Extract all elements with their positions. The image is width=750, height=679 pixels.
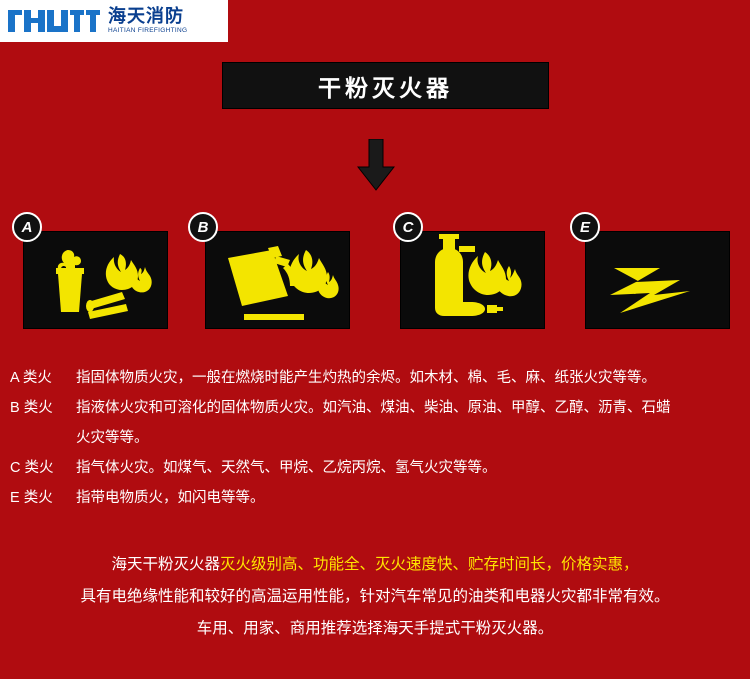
liquid-fuel-fire-icon (206, 232, 349, 328)
gas-cylinder-fire-icon (401, 232, 544, 328)
fire-class-cards: A B C E (0, 212, 750, 337)
fire-class-card (585, 231, 730, 329)
description-text: 指液体火灾和可溶化的固体物质火灾。如汽油、煤油、柴油、原油、甲醇、乙醇、沥青、石… (76, 400, 671, 416)
solid-combustible-fire-icon (24, 232, 167, 328)
description-label: E 类火 (10, 483, 76, 513)
footer-line-3: 车用、用家、商用推荐选择海天手提式干粉灭火器。 (0, 613, 750, 645)
down-arrow-icon (357, 139, 395, 191)
description-row: A 类火指固体物质火灾，一般在燃烧时能产生灼热的余烬。如木材、棉、毛、麻、纸张火… (10, 363, 745, 393)
fire-class-badge: C (393, 212, 423, 242)
logo-brand-en: HAITIAN FIREFIGHTING (108, 28, 187, 35)
description-text: 指带电物质火，如闪电等等。 (76, 490, 265, 506)
footer-paragraph: 海天干粉灭火器灭火级别高、功能全、灭火速度快、贮存时间长，价格实惠， 具有电绝缘… (0, 549, 750, 645)
page-title: 干粉灭火器 (222, 62, 549, 109)
haitian-wave-logo-icon (6, 6, 102, 36)
fire-class-badge: E (570, 212, 600, 242)
description-text-continued: 火灾等等。 (10, 423, 745, 453)
fire-class-card (23, 231, 168, 329)
description-label: C 类火 (10, 453, 76, 483)
description-row: B 类火指液体火灾和可溶化的固体物质火灾。如汽油、煤油、柴油、原油、甲醇、乙醇、… (10, 393, 745, 423)
footer-line-1-brand: 海天干粉灭火器 (111, 556, 220, 573)
fire-class-descriptions: A 类火指固体物质火灾，一般在燃烧时能产生灼热的余烬。如木材、棉、毛、麻、纸张火… (10, 363, 745, 513)
logo-text: 海天消防 HAITIAN FIREFIGHTING (108, 7, 187, 35)
description-label: A 类火 (10, 363, 76, 393)
fire-class-badge: B (188, 212, 218, 242)
description-text: 指气体火灾。如煤气、天然气、甲烷、乙烷丙烷、氢气火灾等等。 (76, 460, 497, 476)
description-row: E 类火指带电物质火，如闪电等等。 (10, 483, 745, 513)
footer-line-2: 具有电绝缘性能和较好的高温运用性能，针对汽车常见的油类和电器火灾都非常有效。 (0, 581, 750, 613)
fire-class-card (400, 231, 545, 329)
fire-class-badge: A (12, 212, 42, 242)
description-row: C 类火指气体火灾。如煤气、天然气、甲烷、乙烷丙烷、氢气火灾等等。 (10, 453, 745, 483)
logo-bar: 海天消防 HAITIAN FIREFIGHTING (0, 0, 228, 42)
description-label: B 类火 (10, 393, 76, 423)
logo-brand-cn: 海天消防 (108, 7, 187, 25)
fire-class-card (205, 231, 350, 329)
footer-line-1-highlight: 灭火级别高、功能全、灭火速度快、贮存时间长，价格实惠， (220, 556, 639, 573)
page-title-text: 干粉灭火器 (318, 69, 453, 103)
electrical-fire-icon (586, 232, 729, 328)
footer-line-1: 海天干粉灭火器灭火级别高、功能全、灭火速度快、贮存时间长，价格实惠， (0, 549, 750, 581)
description-text: 指固体物质火灾，一般在燃烧时能产生灼热的余烬。如木材、棉、毛、麻、纸张火灾等等。 (76, 370, 656, 386)
